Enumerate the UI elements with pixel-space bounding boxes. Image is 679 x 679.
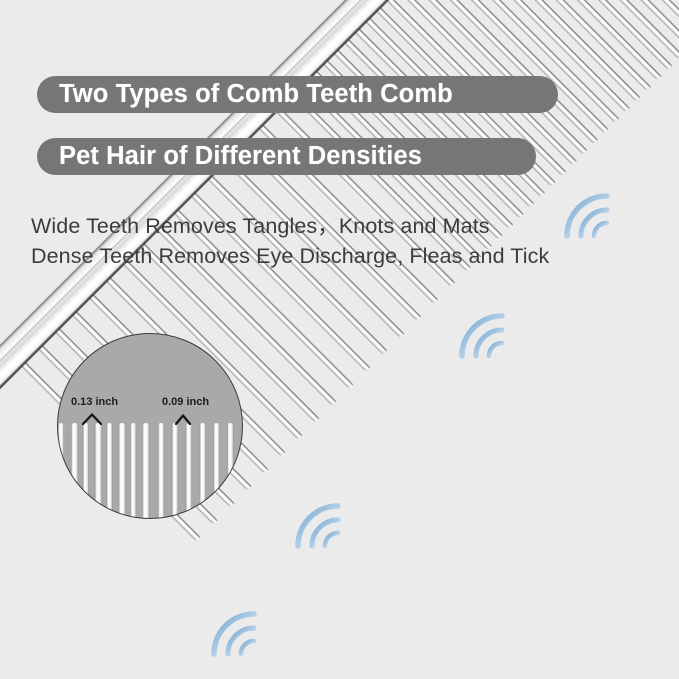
headline-pill-2: Pet Hair of Different Densities: [37, 138, 536, 175]
headline-pill-1: Two Types of Comb Teeth Comb: [37, 76, 558, 113]
caret-up-icon-dense: [173, 413, 193, 425]
signal-wave-icon: [292, 500, 346, 554]
magnifier-callout: 0.13 inch 0.09 inch: [57, 333, 243, 519]
headline-pill-2-label: Pet Hair of Different Densities: [59, 142, 422, 171]
headline-pill-1-label: Two Types of Comb Teeth Comb: [59, 80, 453, 109]
feature-description: Wide Teeth Removes Tangles，Knots and Mat…: [31, 211, 549, 271]
magnifier-label-wide-gap: 0.13 inch: [71, 396, 118, 408]
signal-wave-icon: [561, 190, 615, 244]
magnifier-dense-teeth: [158, 423, 234, 518]
signal-wave-icon: [456, 310, 510, 364]
magnifier-teeth: [58, 334, 242, 518]
feature-line-wide-teeth: Wide Teeth Removes Tangles，Knots and Mat…: [31, 211, 549, 241]
magnifier-label-dense-gap: 0.09 inch: [162, 396, 209, 408]
caret-up-icon-wide: [82, 413, 102, 425]
product-feature-image: Two Types of Comb Teeth Comb Pet Hair of…: [0, 0, 679, 679]
signal-wave-icon: [208, 608, 262, 662]
feature-line-dense-teeth: Dense Teeth Removes Eye Discharge, Fleas…: [31, 241, 549, 271]
